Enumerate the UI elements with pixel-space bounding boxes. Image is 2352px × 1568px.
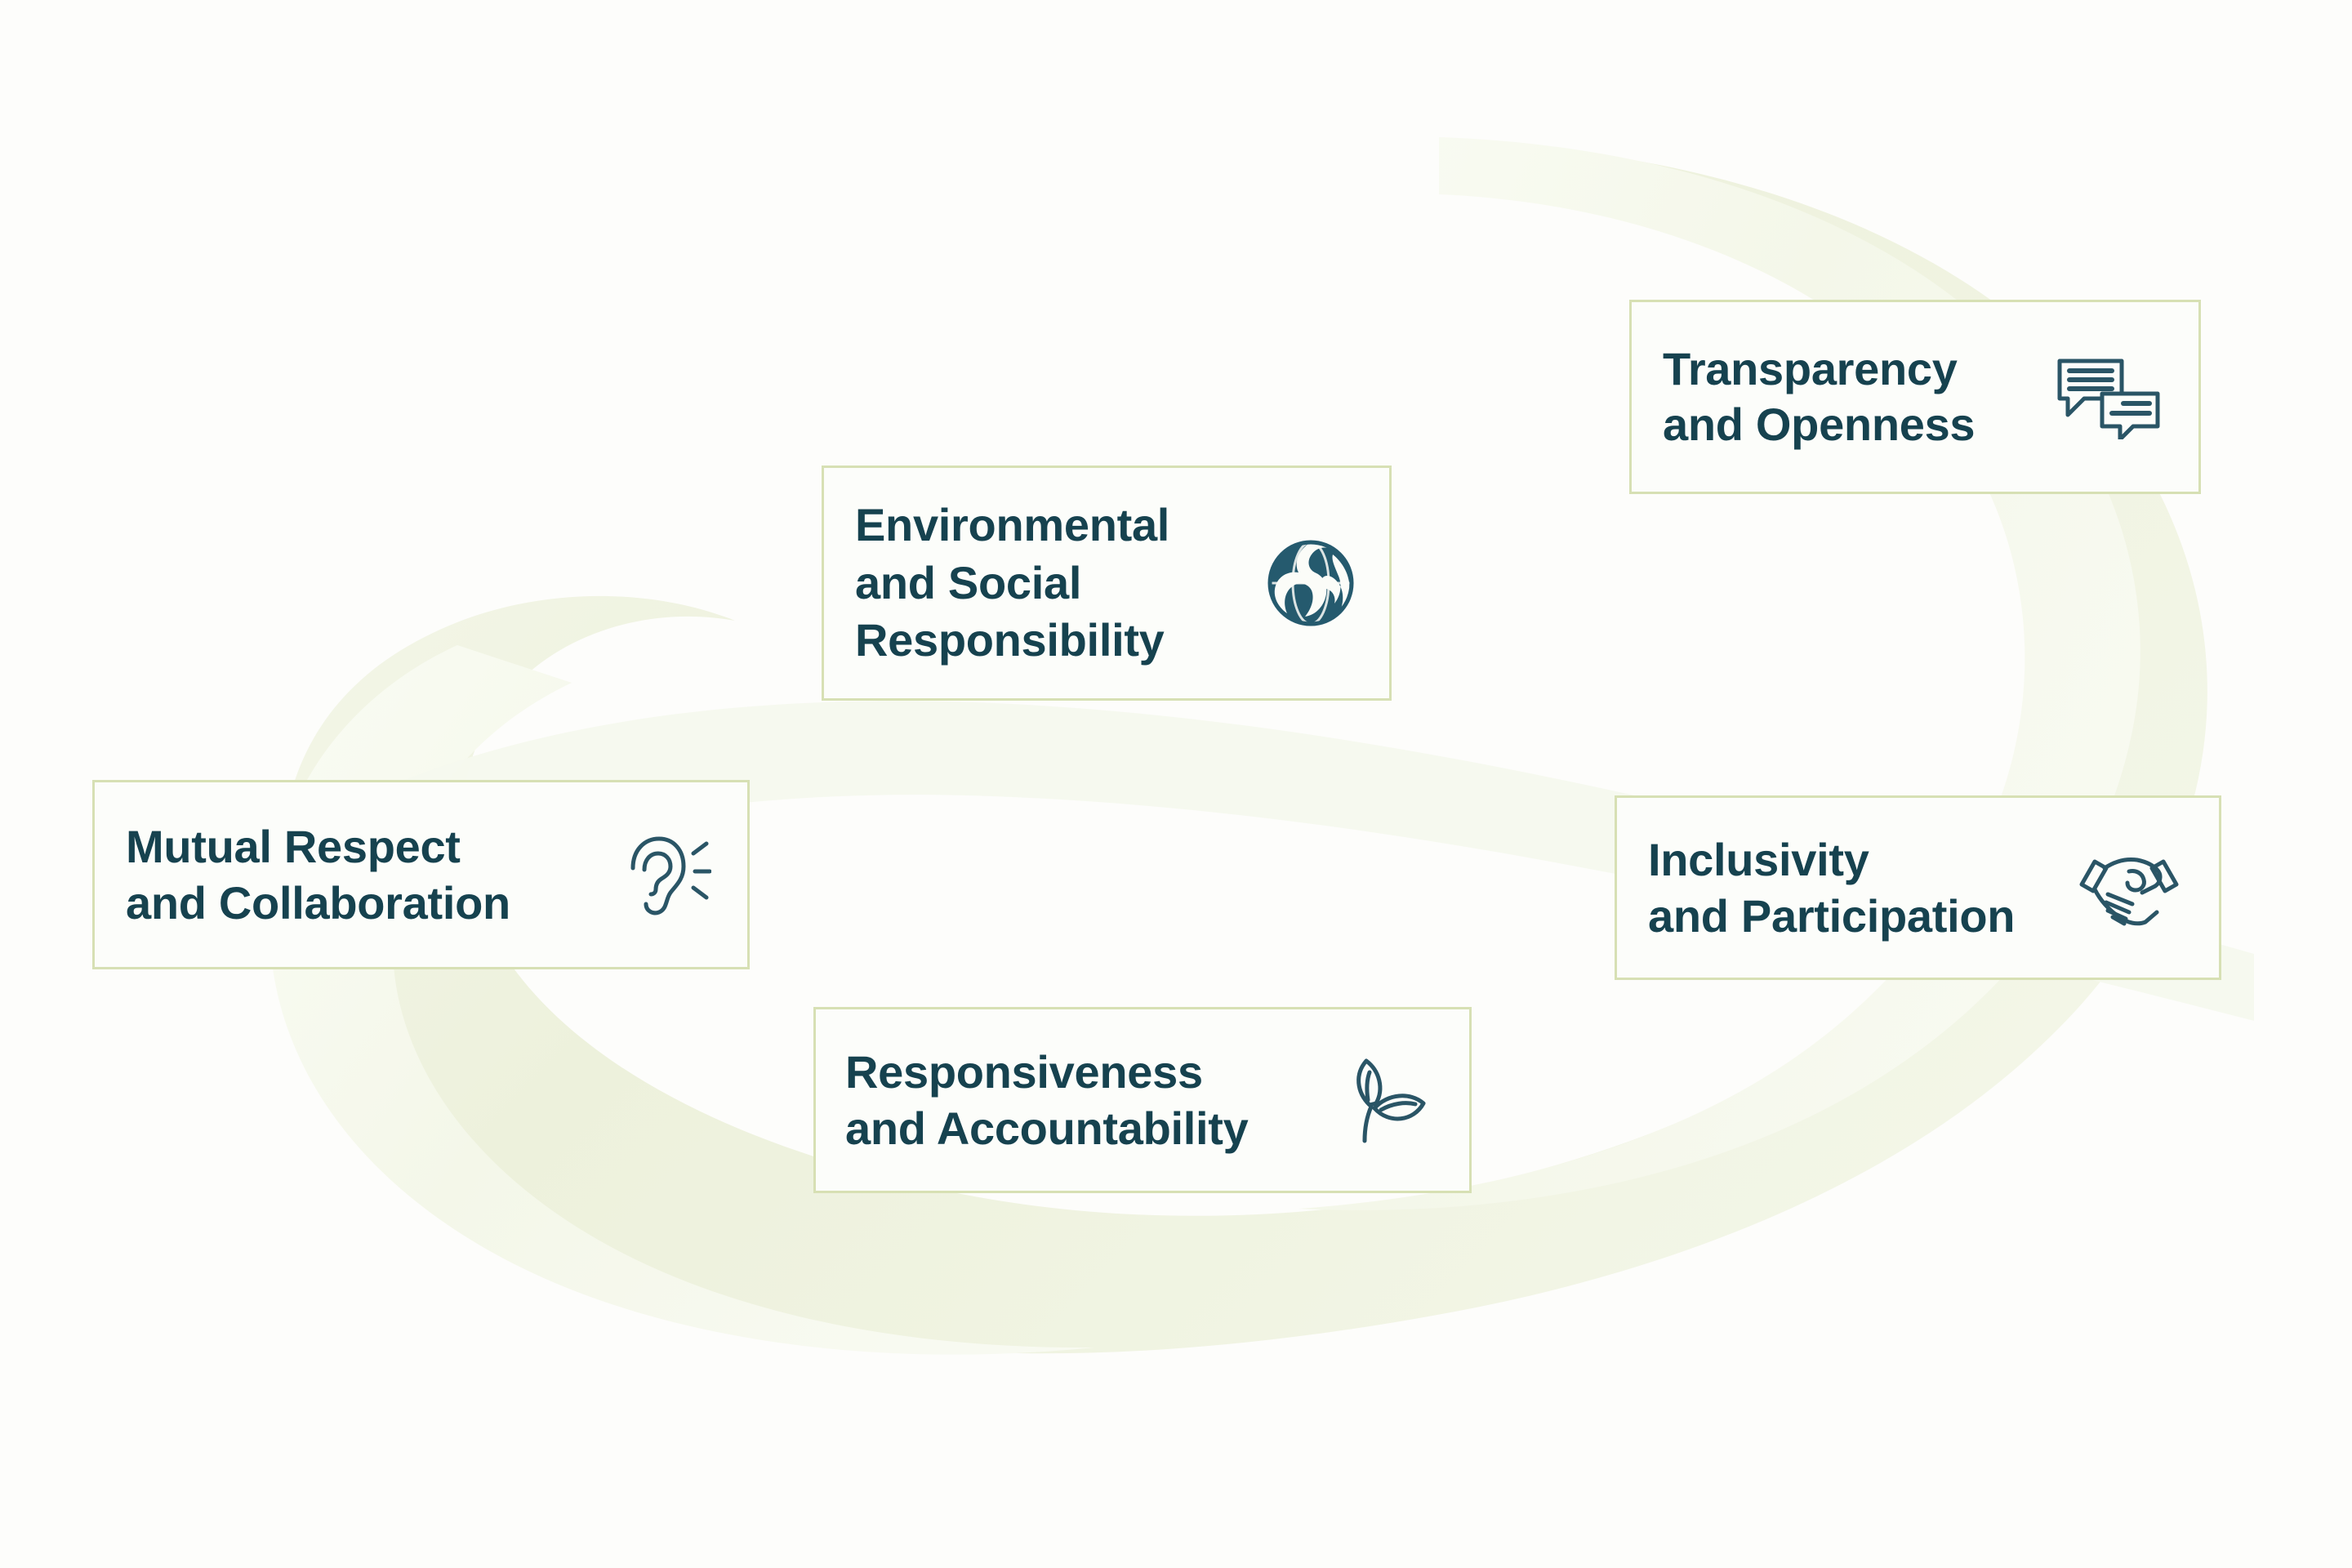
sprout-leaf-icon bbox=[1337, 1050, 1441, 1150]
card-mutual-label: Mutual Respect and Collaboration bbox=[126, 818, 510, 932]
infographic-canvas: Transparency and Openness Environmental … bbox=[0, 0, 2352, 1568]
card-responsiveness-and-accountability[interactable]: Responsiveness and Accountability bbox=[813, 1007, 1472, 1193]
ear-listening-icon bbox=[617, 829, 715, 920]
handshake-icon bbox=[2075, 847, 2183, 929]
card-mutual-respect-and-collaboration[interactable]: Mutual Respect and Collaboration bbox=[92, 780, 750, 969]
ribbon-loop-tail bbox=[269, 645, 1094, 1355]
card-transparency-label: Transparency and Openness bbox=[1663, 341, 1975, 453]
card-inclusivity-and-participation[interactable]: Inclusivity and Participation bbox=[1615, 795, 2221, 980]
card-environmental-label: Environmental and Social Responsibility bbox=[855, 497, 1169, 670]
globe-icon bbox=[1262, 534, 1360, 632]
speech-bubbles-icon bbox=[2051, 352, 2166, 442]
card-inclusivity-label: Inclusivity and Participation bbox=[1648, 831, 2015, 945]
card-environmental-and-social-responsibility[interactable]: Environmental and Social Responsibility bbox=[822, 465, 1392, 701]
card-transparency-and-openness[interactable]: Transparency and Openness bbox=[1629, 300, 2201, 494]
card-responsiveness-label: Responsiveness and Accountability bbox=[845, 1044, 1248, 1157]
